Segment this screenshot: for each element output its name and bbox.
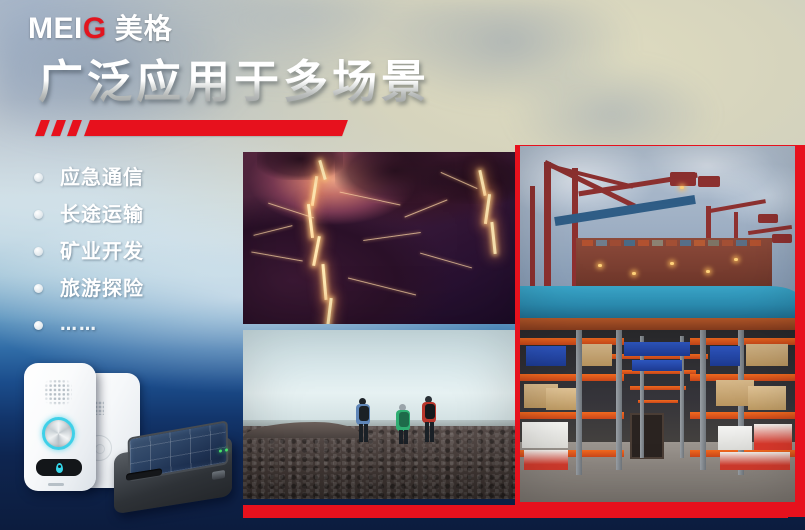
accent-stripe-2 <box>51 120 66 136</box>
scenario-photo-collage <box>243 152 788 507</box>
list-item-label: 矿业开发 <box>60 241 144 261</box>
location-pin-icon <box>56 463 63 473</box>
logo-wordmark: MEIG <box>28 14 107 44</box>
logo-wordmark-prefix: MEI <box>28 12 83 45</box>
title-accent-bar <box>38 120 348 136</box>
photo-lightning <box>243 152 515 324</box>
usb-port-icon <box>48 483 64 486</box>
product-devices <box>10 355 235 525</box>
list-item-label: 应急通信 <box>60 167 144 187</box>
list-item-label: 旅游探险 <box>60 278 144 298</box>
bullet-dot-icon <box>34 321 43 330</box>
accent-stripe-main <box>84 120 348 136</box>
warehouse-door <box>630 413 664 459</box>
sos-button-icon <box>42 417 75 450</box>
bullet-dot-icon <box>34 173 43 182</box>
logo-chinese-name: 美格 <box>115 15 173 43</box>
list-item-label: 长途运输 <box>60 204 144 224</box>
list-item: 矿业开发 <box>34 234 219 268</box>
scenario-list: 应急通信 长途运输 矿业开发 旅游探险 …… <box>34 160 219 345</box>
list-item: 旅游探险 <box>34 271 219 305</box>
device-solar-tracker <box>114 427 234 509</box>
photo-container-port <box>520 146 795 330</box>
brand-logo: MEIG 美格 <box>28 14 173 44</box>
accent-stripe-3 <box>67 120 82 136</box>
bullet-dot-icon <box>34 284 43 293</box>
accent-stripe-1 <box>35 120 50 136</box>
list-item-label: …… <box>60 317 98 334</box>
bullet-dot-icon <box>34 247 43 256</box>
bullet-dot-icon <box>34 210 43 219</box>
device-display <box>36 459 82 476</box>
collage-bottom-red-bar <box>243 505 788 518</box>
slide-root: MEIG 美格 广泛应用于多场景 应急通信 长途运输 矿业开发 旅游探险 …… <box>0 0 805 530</box>
container-ship <box>520 286 795 320</box>
list-item: 应急通信 <box>34 160 219 194</box>
list-item: 长途运输 <box>34 197 219 231</box>
photo-warehouse <box>520 330 795 502</box>
list-item: …… <box>34 308 219 342</box>
device-white-tracker-front <box>24 363 96 491</box>
photo-hikers <box>243 330 515 499</box>
logo-wordmark-accent: G <box>83 12 107 45</box>
page-title: 广泛应用于多场景 <box>38 58 430 105</box>
speaker-grille-icon <box>44 379 72 405</box>
